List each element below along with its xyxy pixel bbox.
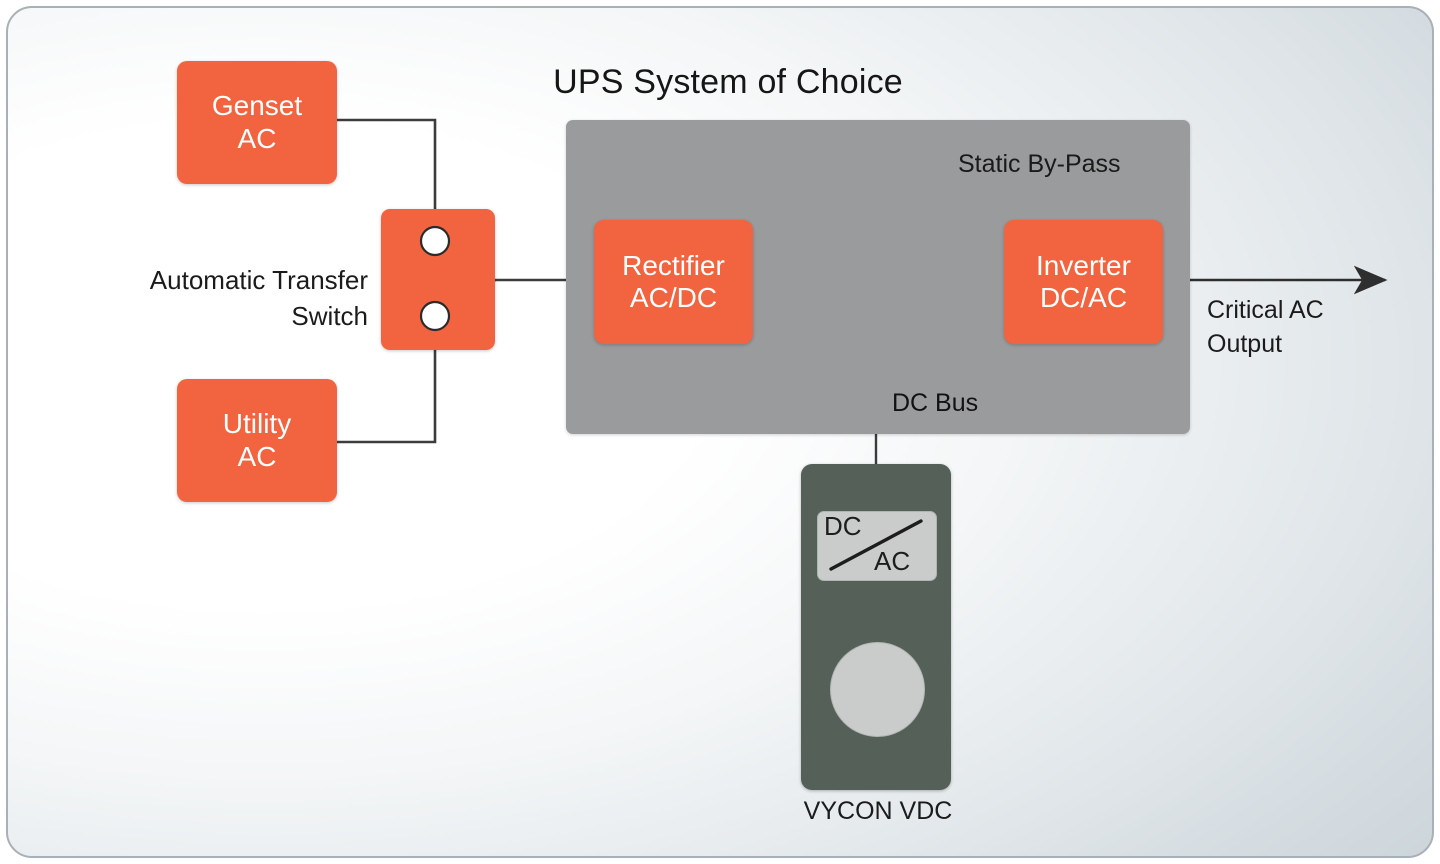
utility-source-block[interactable]: Utility AC bbox=[177, 379, 337, 502]
page-title: UPS System of Choice bbox=[8, 63, 1434, 102]
inverter-block[interactable]: Inverter DC/AC bbox=[1004, 220, 1163, 344]
diagram-frame: Genset AC Utility AC Rectifier AC/DC Inv… bbox=[6, 6, 1434, 858]
dc-bus-label: DC Bus bbox=[892, 389, 978, 418]
diagram-canvas: Genset AC Utility AC Rectifier AC/DC Inv… bbox=[0, 0, 1440, 864]
automatic-transfer-switch-label: Automatic Transfer Switch bbox=[48, 262, 368, 334]
static-bypass-label: Static By-Pass bbox=[958, 150, 1121, 179]
automatic-transfer-switch-block[interactable] bbox=[381, 209, 495, 350]
critical-ac-output-label: Critical AC Output bbox=[1207, 293, 1324, 361]
converter-dc-label: DC bbox=[824, 511, 862, 542]
flywheel-rotor-disc bbox=[830, 642, 925, 737]
rectifier-block[interactable]: Rectifier AC/DC bbox=[594, 220, 753, 344]
vycon-vdc-caption: VYCON VDC bbox=[708, 797, 1048, 826]
converter-ac-label: AC bbox=[874, 546, 910, 577]
